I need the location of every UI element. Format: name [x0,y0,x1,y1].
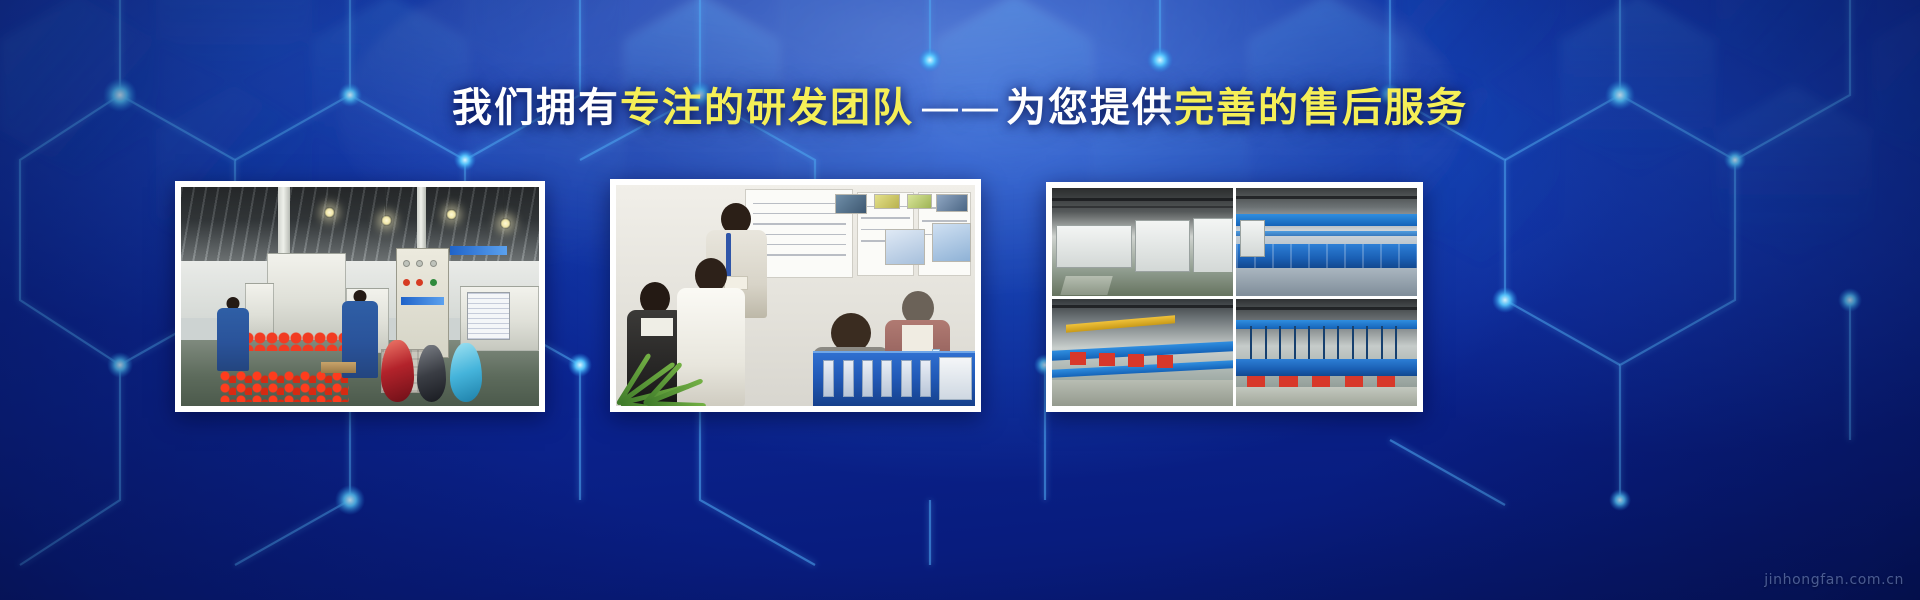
collage-cell-blue-duct-line [1236,188,1417,296]
headline-dash: —— [914,85,1006,131]
machine-illustration [813,351,975,406]
collage-cell-drying-line [1052,188,1233,296]
banner-headline: 我们拥有专注的研发团队——为您提供完善的售后服务 [0,82,1920,134]
factory-equipment-collage-image [1052,188,1417,406]
headline-segment-4: 完善的售后服务 [1174,85,1468,131]
headline-segment-2: 专注的研发团队 [620,85,914,131]
foreground-plant [620,344,699,406]
team-meeting-photo[interactable] [610,179,981,412]
promo-banner: 我们拥有专注的研发团队——为您提供完善的售后服务 [0,0,1920,600]
factory-equipment-collage-photo[interactable] [1046,182,1423,412]
team-meeting-image [616,185,975,406]
site-watermark: jinhongfan.com.cn [1764,572,1904,588]
collage-cell-spray-line [1236,299,1417,407]
headline-segment-1: 我们拥有 [452,85,620,131]
production-line-photo[interactable] [175,181,545,412]
collage-cell-conveyor-line [1052,299,1233,407]
production-line-image [181,187,539,406]
headline-segment-3: 为您提供 [1006,85,1174,131]
